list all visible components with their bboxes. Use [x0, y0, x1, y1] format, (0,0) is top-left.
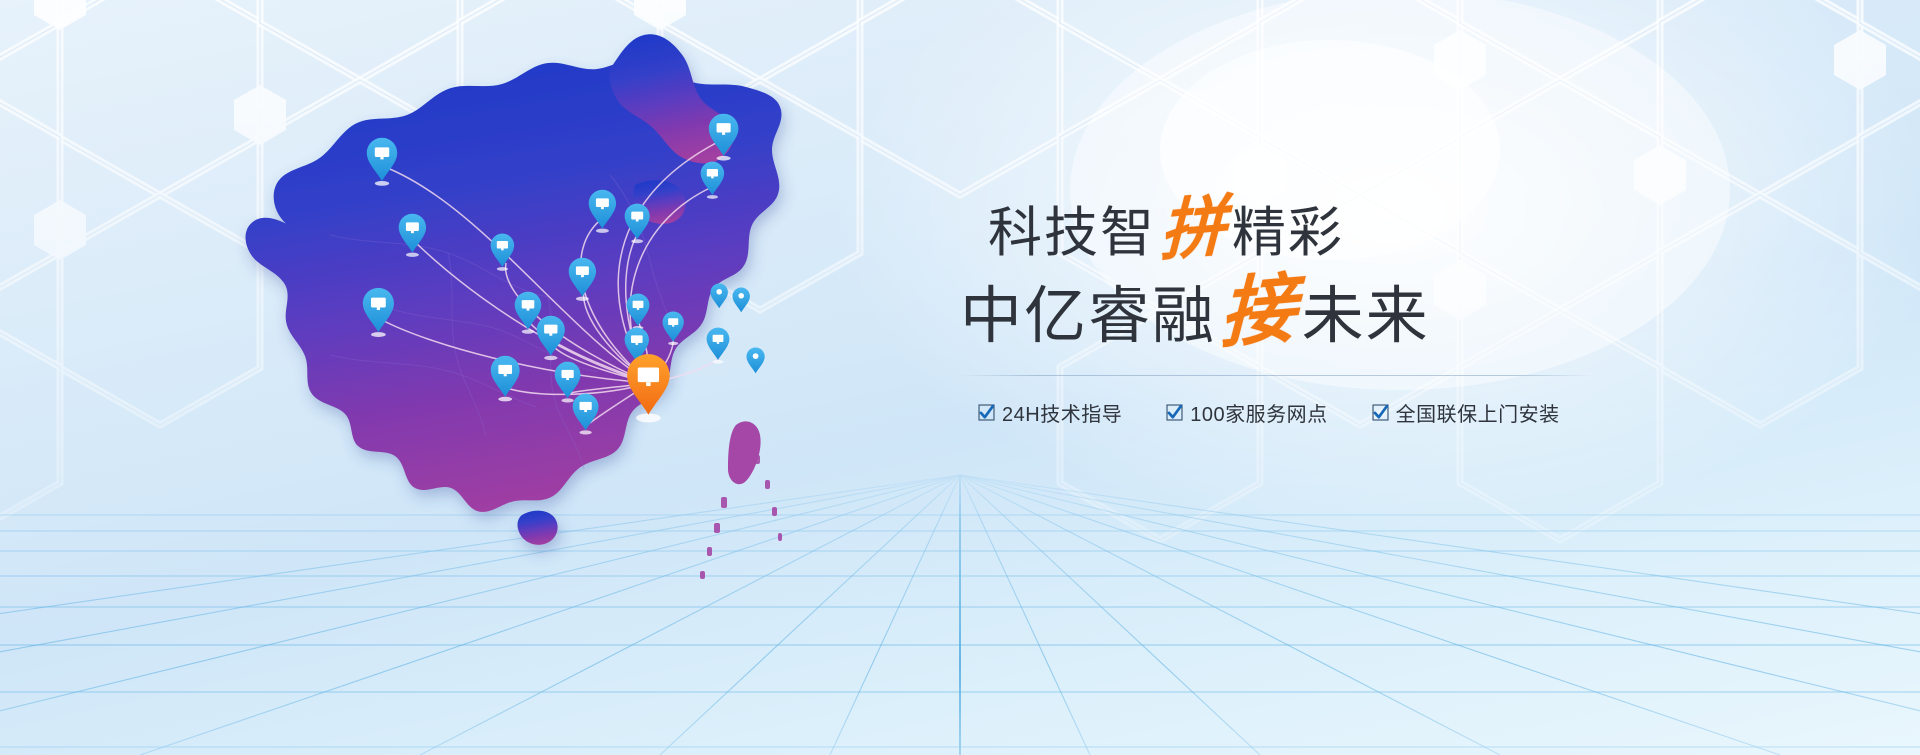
location-marker-pin[interactable]: [710, 283, 727, 308]
feature-item: 全国联保上门安装: [1372, 398, 1560, 427]
china-service-network-map: 中国服务网点分布图: [180, 25, 820, 605]
service-point-pin[interactable]: [707, 328, 730, 364]
headquarters-pin[interactable]: [627, 354, 670, 422]
feature-item: 24H技术指导: [978, 398, 1122, 427]
feature-list: 24H技术指导 100家服务网点 全国联保上门安装: [960, 398, 1620, 427]
headline-line2-before: 中亿睿融: [960, 282, 1216, 351]
offshore-islands: [700, 421, 782, 579]
checkbox-checked-icon: [978, 404, 995, 421]
location-marker-pin[interactable]: [746, 347, 764, 373]
checkbox-checked-icon: [1166, 404, 1183, 421]
feature-label: 全国联保上门安装: [1396, 398, 1560, 427]
checkbox-checked-icon: [1372, 404, 1389, 421]
headline-line-1: 科技智拼精彩: [960, 195, 1620, 265]
feature-item: 100家服务网点: [1166, 398, 1327, 427]
headline-line1-accent: 拼: [1156, 192, 1233, 269]
page-title: 科技智拼精彩 中亿睿融接未来: [960, 195, 1620, 353]
headline-line-2: 中亿睿融接未来: [960, 273, 1620, 353]
headline-block: 科技智拼精彩 中亿睿融接未来 24H技术指导 100家服务网点: [960, 195, 1620, 427]
location-marker-pin[interactable]: [732, 287, 749, 312]
divider: [960, 375, 1592, 376]
feature-label: 24H技术指导: [1002, 398, 1122, 427]
headline-line1-after: 精彩: [1232, 203, 1344, 263]
headline-line2-accent: 接: [1215, 269, 1302, 357]
feature-label: 100家服务网点: [1190, 398, 1327, 427]
headline-line1-before: 科技智: [988, 203, 1156, 263]
promo-banner: 中国服务网点分布图: [0, 0, 1920, 755]
headline-line2-after: 未来: [1302, 282, 1430, 351]
